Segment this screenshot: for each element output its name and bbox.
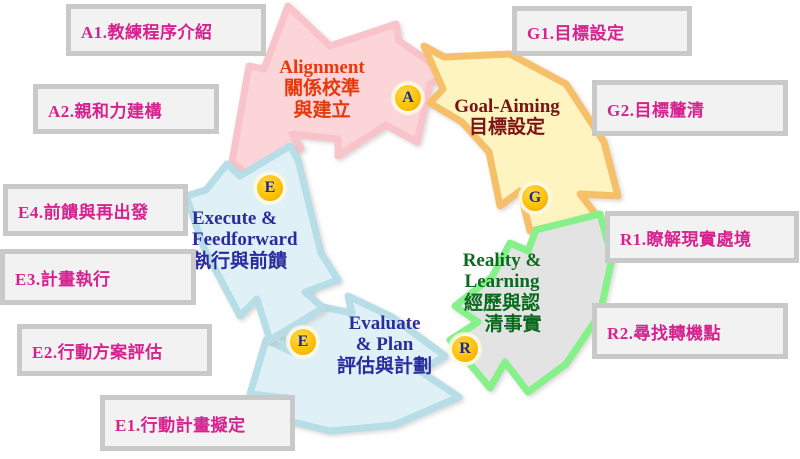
label-box-r2[interactable]: R2.尋找轉機點: [592, 303, 788, 359]
label-box-e4[interactable]: E4.前饋與再出發: [3, 184, 188, 236]
caption-en-alignment: Alignment: [252, 57, 392, 78]
label-box-r1[interactable]: R1.瞭解現實處境: [605, 211, 799, 263]
label-text-a1: A1.教練程序介紹: [81, 18, 213, 43]
caption-zh2-reality: 清事實: [442, 314, 562, 335]
segment-caption-goal-aiming: Goal-Aiming 目標設定: [442, 96, 572, 139]
label-box-e1[interactable]: E1.行動計畫擬定: [100, 395, 295, 451]
caption-en2-reality: Learning: [442, 271, 562, 292]
label-text-e4: E4.前饋與再出發: [18, 198, 149, 223]
label-box-g1[interactable]: G1.目標設定: [512, 6, 692, 56]
label-box-a1[interactable]: A1.教練程序介紹: [66, 4, 266, 56]
caption-en1-evaluate: Evaluate: [322, 313, 447, 334]
segment-caption-execute-feedforward: Execute & Feedforward 執行與前饋: [192, 208, 342, 272]
badge-g-icon: G: [520, 183, 550, 213]
caption-zh1-execute: 執行與前饋: [192, 251, 342, 272]
caption-en1-execute: Execute &: [192, 208, 342, 229]
caption-en1-reality: Reality &: [442, 250, 562, 271]
segment-caption-reality-learning: Reality & Learning 經歷與認 清事實: [442, 250, 562, 335]
segment-caption-alignment: Alignment 關係校準 與建立: [252, 57, 392, 121]
badge-e-evaluate-icon: E: [288, 327, 318, 357]
label-box-a2[interactable]: A2.親和力建構: [33, 84, 219, 134]
caption-zh2-alignment: 與建立: [252, 100, 392, 121]
segment-caption-evaluate-plan: Evaluate & Plan 評估與計劃: [322, 313, 447, 377]
label-box-e3[interactable]: E3.計畫執行: [0, 249, 196, 305]
caption-zh1-evaluate: 評估與計劃: [322, 356, 447, 377]
label-text-g2: G2.目標釐清: [607, 96, 704, 121]
caption-en2-execute: Feedforward: [192, 229, 342, 250]
caption-zh1-reality: 經歷與認: [442, 293, 562, 314]
label-text-e1: E1.行動計畫擬定: [115, 411, 246, 436]
badge-a-icon: A: [393, 83, 423, 113]
label-box-e2[interactable]: E2.行動方案評估: [17, 324, 212, 376]
caption-zh1-alignment: 關係校準: [252, 78, 392, 99]
label-text-a2: A2.親和力建構: [48, 97, 162, 122]
label-box-g2[interactable]: G2.目標釐清: [592, 80, 788, 136]
caption-en2-evaluate: & Plan: [322, 334, 447, 355]
label-text-e2: E2.行動方案評估: [32, 338, 163, 363]
caption-en-goal-aiming: Goal-Aiming: [442, 96, 572, 117]
badge-e-execute-icon: E: [255, 173, 285, 203]
label-text-r2: R2.尋找轉機點: [607, 319, 721, 344]
label-text-g1: G1.目標設定: [527, 19, 624, 44]
caption-zh1-goal-aiming: 目標設定: [442, 117, 572, 138]
label-text-r1: R1.瞭解現實處境: [620, 225, 752, 250]
label-text-e3: E3.計畫執行: [15, 265, 111, 290]
badge-r-icon: R: [450, 334, 480, 364]
diagram-canvas: Alignment 關係校準 與建立 Goal-Aiming 目標設定 Real…: [0, 0, 800, 459]
